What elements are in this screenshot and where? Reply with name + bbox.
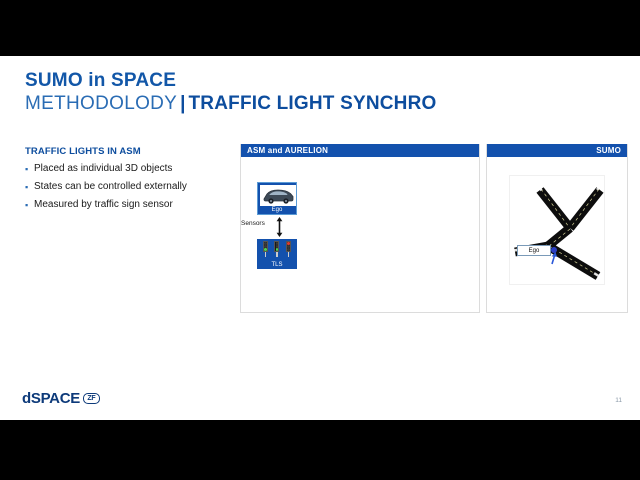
page-number: 11 xyxy=(615,397,622,404)
car-icon xyxy=(260,185,296,206)
slide-screen: SUMO in SPACE METHODOLODY|TRAFFIC LIGHT … xyxy=(0,0,640,480)
slide-content: SUMO in SPACE METHODOLODY|TRAFFIC LIGHT … xyxy=(0,56,640,420)
road-network-icon xyxy=(510,176,606,286)
letterbox-top xyxy=(0,0,640,56)
ego-label: Ego xyxy=(258,207,296,213)
list-item: ▪ Measured by traffic sign sensor xyxy=(25,198,225,212)
title-separator: | xyxy=(177,93,188,114)
traffic-light-group xyxy=(260,241,294,258)
ego-vehicle-block: Ego xyxy=(257,182,297,215)
traffic-light-icon xyxy=(262,241,269,257)
bullet-marker-icon: ▪ xyxy=(25,180,34,194)
bullet-list-heading: TRAFFIC LIGHTS IN ASM xyxy=(25,146,225,157)
ego-vehicle-icon xyxy=(260,185,296,206)
bullet-text: Measured by traffic sign sensor xyxy=(34,198,173,212)
sensors-label: Sensors xyxy=(241,220,265,227)
list-item: ▪ Placed as individual 3D objects xyxy=(25,162,225,176)
lamp-green xyxy=(264,248,267,251)
bullet-marker-icon: ▪ xyxy=(25,198,34,212)
title-subject: TRAFFIC LIGHT SYNCHRO xyxy=(188,93,436,114)
bidirectional-arrow-icon xyxy=(275,217,284,237)
panel-asm-body: Ego Sensors xyxy=(241,157,479,312)
panel-sumo: SUMO xyxy=(486,144,628,313)
traffic-light-icon xyxy=(285,241,292,257)
dspace-logo: dSPACE ZF xyxy=(22,390,100,407)
ego-vehicle-marker xyxy=(551,247,557,253)
traffic-light-pole xyxy=(288,252,290,257)
sumo-network-map xyxy=(509,175,605,285)
panel-asm-aurelion: ASM and AURELION Ego xyxy=(240,144,480,313)
panel-sumo-header: SUMO xyxy=(487,144,627,157)
panel-sumo-body: Ego xyxy=(487,157,627,312)
lamp-green xyxy=(276,248,279,251)
panel-asm-header: ASM and AURELION xyxy=(241,144,479,157)
title-methodology: METHODOLODY xyxy=(25,93,177,114)
title-secondary: METHODOLODY|TRAFFIC LIGHT SYNCHRO xyxy=(25,92,437,115)
bullet-marker-icon: ▪ xyxy=(25,162,34,176)
title-primary: SUMO in SPACE xyxy=(25,70,437,91)
bullet-text: Placed as individual 3D objects xyxy=(34,162,172,176)
traffic-light-pole xyxy=(265,252,267,257)
tls-label: TLS xyxy=(257,262,297,268)
letterbox-bottom xyxy=(0,420,640,480)
bullet-text: States can be controlled externally xyxy=(34,180,187,194)
traffic-light-pole xyxy=(276,252,278,257)
traffic-light-icon xyxy=(273,241,280,257)
ego-callout-label: Ego xyxy=(517,245,551,256)
bullet-list-section: TRAFFIC LIGHTS IN ASM ▪ Placed as indivi… xyxy=(25,146,225,216)
list-item: ▪ States can be controlled externally xyxy=(25,180,225,194)
page-title: SUMO in SPACE METHODOLODY|TRAFFIC LIGHT … xyxy=(25,70,437,115)
zf-badge-icon: ZF xyxy=(83,393,100,404)
logo-wordmark: dSPACE xyxy=(22,390,80,407)
traffic-light-system-block: TLS xyxy=(257,239,297,269)
lamp-green xyxy=(287,248,290,251)
